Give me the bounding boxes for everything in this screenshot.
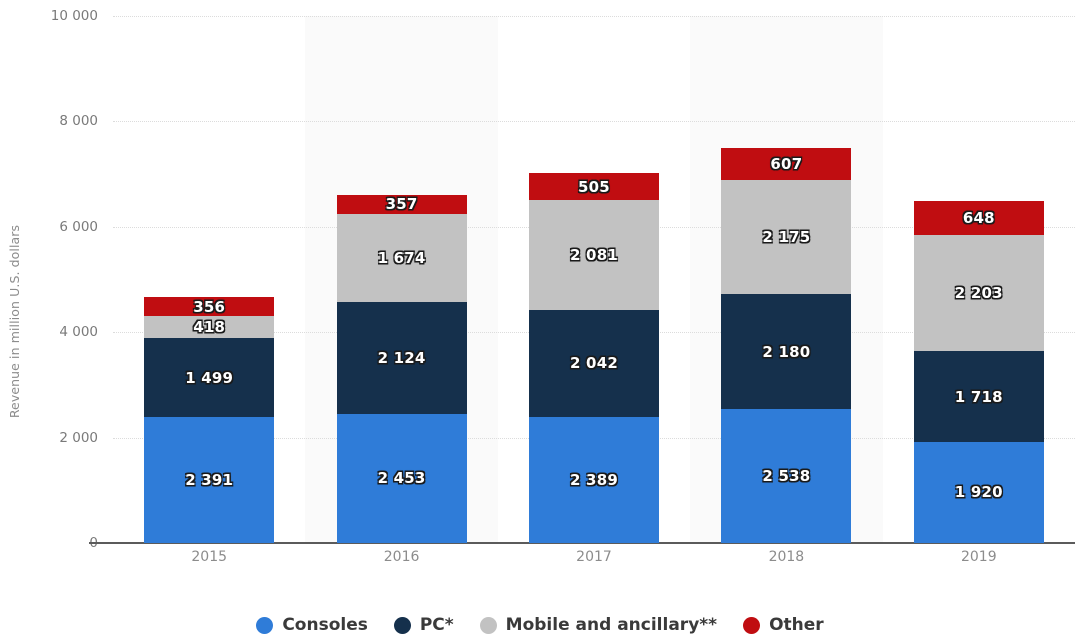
bar-stack-2018[interactable]: 2 5382 1802 175607 [721,148,851,543]
legend-label: PC* [420,615,454,635]
x-axis-tick-label: 2016 [305,549,497,565]
bar-segment[interactable]: 2 180 [721,294,851,409]
bar-segment[interactable]: 2 389 [529,417,659,543]
legend-item[interactable]: Other [743,615,824,635]
bar-segment[interactable]: 357 [337,195,467,214]
bar-segment[interactable]: 418 [144,316,274,338]
bar-segment[interactable]: 1 674 [337,214,467,302]
y-axis-tick-label: 0 [0,535,98,551]
bar-stack-2015[interactable]: 2 3911 499418356 [144,297,274,543]
bar-segment[interactable]: 607 [721,148,851,180]
legend-label: Consoles [282,615,368,635]
x-axis-tick-label: 2015 [113,549,305,565]
legend-item[interactable]: PC* [394,615,454,635]
chart-legend: ConsolesPC*Mobile and ancillary**Other [0,607,1080,643]
bar-value-label: 1 718 [955,388,1003,406]
bar-value-label: 648 [963,209,995,227]
x-axis-tick-label: 2017 [498,549,690,565]
legend-swatch-icon [256,617,273,634]
legend-item[interactable]: Mobile and ancillary** [480,615,717,635]
y-axis-tick-label: 10 000 [0,8,98,24]
y-axis-tick-label: 6 000 [0,219,98,235]
bar-value-label: 2 180 [762,343,810,361]
bar-value-label: 505 [578,178,610,196]
bar-segment[interactable]: 2 175 [721,180,851,295]
stacked-bar-chart: Revenue in million U.S. dollars 02 0004 … [0,0,1080,643]
legend-label: Mobile and ancillary** [506,615,717,635]
bar-stack-2016[interactable]: 2 4532 1241 674357 [337,195,467,543]
y-axis-tick-label: 2 000 [0,430,98,446]
bar-stack-2019[interactable]: 1 9201 7182 203648 [914,201,1044,543]
bar-value-label: 2 081 [570,246,618,264]
bar-value-label: 2 453 [378,469,426,487]
bar-segment[interactable]: 2 042 [529,310,659,418]
y-axis-tick-label: 8 000 [0,113,98,129]
bar-segment[interactable]: 1 718 [914,351,1044,442]
bar-value-label: 1 674 [378,249,426,267]
bar-value-label: 2 203 [955,284,1003,302]
bar-segment[interactable]: 2 391 [144,417,274,543]
gridline [113,16,1075,17]
x-axis-tick-label: 2018 [690,549,882,565]
legend-swatch-icon [480,617,497,634]
bar-segment[interactable]: 2 203 [914,235,1044,351]
bar-segment[interactable]: 1 499 [144,338,274,417]
legend-label: Other [769,615,824,635]
bar-value-label: 2 389 [570,471,618,489]
bar-value-label: 1 499 [185,369,233,387]
bar-segment[interactable]: 2 081 [529,200,659,310]
bar-segment[interactable]: 2 453 [337,414,467,543]
bar-value-label: 607 [770,155,802,173]
bar-segment[interactable]: 2 124 [337,302,467,414]
bar-value-label: 357 [386,195,418,213]
x-axis-tick-label: 2019 [883,549,1075,565]
bar-value-label: 2 391 [185,471,233,489]
gridline [113,121,1075,122]
y-axis-tick-label: 4 000 [0,324,98,340]
plot-area: 02 0004 0006 0008 00010 0002 3911 499418… [113,16,1075,543]
legend-swatch-icon [743,617,760,634]
bar-segment[interactable]: 1 920 [914,442,1044,543]
bar-segment[interactable]: 505 [529,173,659,200]
bar-segment[interactable]: 356 [144,297,274,316]
bar-value-label: 418 [193,318,225,336]
bar-value-label: 1 920 [955,483,1003,501]
bar-value-label: 2 124 [378,349,426,367]
bar-segment[interactable]: 648 [914,201,1044,235]
bar-stack-2017[interactable]: 2 3892 0422 081505 [529,173,659,543]
legend-swatch-icon [394,617,411,634]
bar-value-label: 2 042 [570,354,618,372]
bar-segment[interactable]: 2 538 [721,409,851,543]
legend-item[interactable]: Consoles [256,615,368,635]
bar-value-label: 2 175 [762,228,810,246]
bar-value-label: 356 [193,298,225,316]
bar-value-label: 2 538 [762,467,810,485]
